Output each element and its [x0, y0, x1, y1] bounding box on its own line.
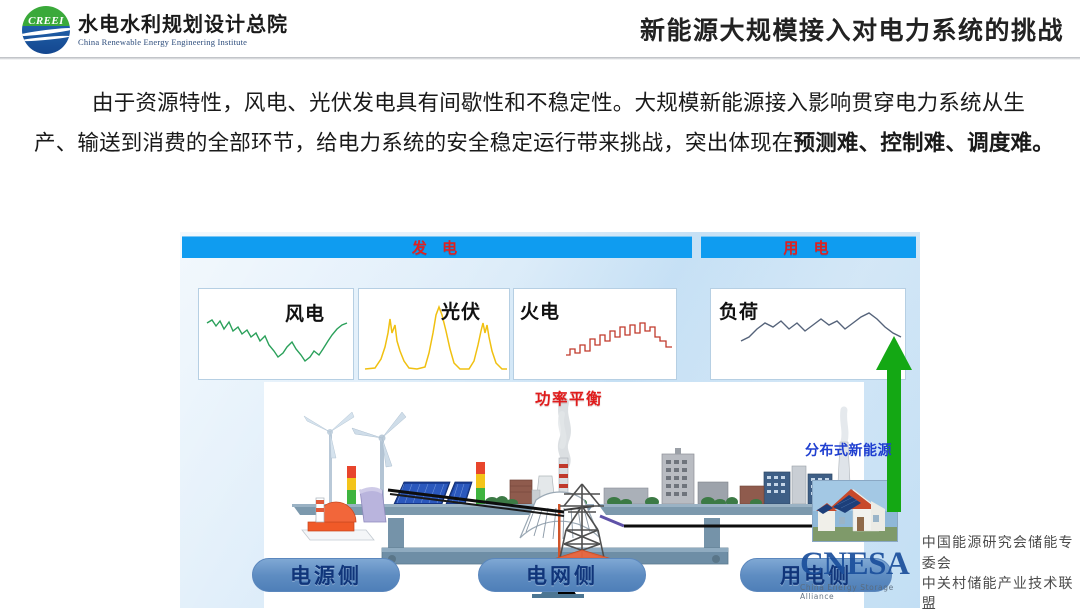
pv-chart-svg [359, 289, 511, 381]
paragraph-emphasis-text: 预测难、控制难、调度难。 [794, 131, 1054, 156]
chart-label-wind: 风电 [285, 299, 325, 326]
transmission-tower-icon [560, 484, 604, 558]
cnesa-chinese-block: 中国能源研究会储能专委会 中关村储能产业技术联盟 [922, 533, 1080, 614]
body-paragraph: 由于资源特性，风电、光伏发电具有间歇性和不稳定性。大规模新能源接入影响贯穿电力系… [34, 84, 1054, 164]
power-balance-label: 功率平衡 [535, 387, 603, 409]
band-generation: 发 电 [182, 236, 692, 258]
creei-logo-text: CREEI [22, 15, 70, 27]
distributed-energy-arrow-icon [874, 336, 914, 512]
logo-wave-shape-secondary [22, 35, 70, 42]
org-name-en: China Renewable Energy Engineering Insti… [78, 37, 288, 47]
creei-logo-icon: CREEI [22, 6, 70, 54]
distributed-energy-label: 分布式新能源 [805, 440, 892, 460]
pill-grid-side-label: 电网侧 [526, 560, 598, 590]
page-title: 新能源大规模接入对电力系统的挑战 [640, 11, 1064, 47]
wind-chart-svg [199, 289, 355, 381]
band-consumption-label: 用 电 [783, 237, 833, 258]
cnesa-brand-text: CNESA [800, 548, 914, 581]
chart-label-pv: 光伏 [441, 297, 481, 324]
pill-grid-side: 电网侧 [478, 558, 646, 592]
power-plant-icon [302, 487, 386, 540]
transmission-lines [388, 490, 824, 526]
org-name-cn: 水电水利规划设计总院 [78, 13, 288, 35]
chart-label-load: 负荷 [719, 297, 759, 324]
cnesa-cn-line-2: 中关村储能产业技术联盟 [922, 574, 1080, 615]
cnesa-cn-line-1: 中国能源研究会储能专委会 [922, 533, 1080, 574]
chart-card-thermal: 火电 [513, 288, 677, 380]
band-consumption: 用 电 [701, 236, 916, 258]
slide-header: CREEI 水电水利规划设计总院 China Renewable Energy … [0, 0, 1080, 58]
chart-label-thermal: 火电 [520, 297, 560, 324]
band-generation-label: 发 电 [412, 237, 462, 258]
chart-card-pv: 光伏 [358, 288, 510, 380]
cnesa-watermark: CNESA China Energy Storage Alliance 中国能源… [800, 545, 1080, 603]
pill-generation-side-label: 电源侧 [290, 560, 362, 590]
pill-generation-side: 电源侧 [252, 558, 400, 592]
cnesa-brand-block: CNESA China Energy Storage Alliance [800, 548, 914, 601]
cnesa-brand-subtitle: China Energy Storage Alliance [800, 583, 914, 601]
chart-card-wind: 风电 [198, 288, 354, 380]
organization-logo: CREEI 水电水利规划设计总院 China Renewable Energy … [22, 6, 288, 54]
header-divider [0, 57, 1080, 60]
